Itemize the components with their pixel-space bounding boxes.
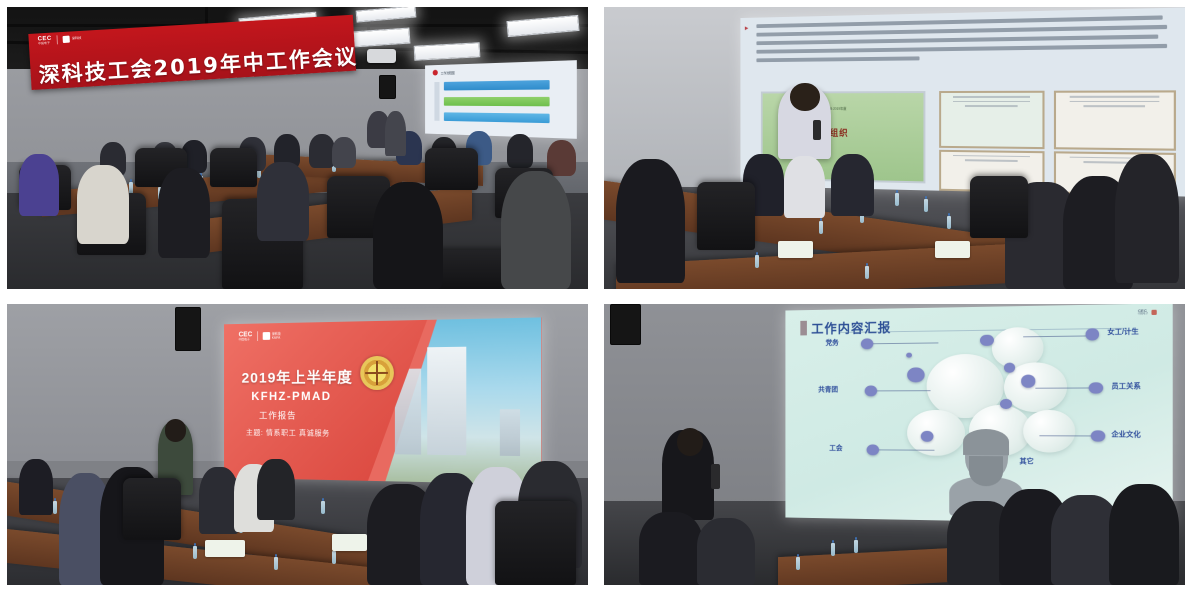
slide-title: 工作内容汇报 [811,317,891,337]
diagram-label-dangwu: 党务 [826,337,839,347]
diagram-blob [1024,409,1076,452]
water-bottle [854,540,858,553]
photo-cell-bottom-right: 工作内容汇报 CEC中国电子 [596,296,1192,592]
certificate [939,91,1044,150]
slide-header: 工作流程图 [433,70,455,76]
water-bottle [796,557,800,570]
photo-grid: CEC 中国电子 深科技 深科技工会2019年中工作会议 工作流程图 [0,0,1192,592]
attendee-foreground [501,171,571,289]
tissue-box [332,534,367,551]
slide-photo-building [427,347,466,455]
cec-logo: CEC 中国电子 [38,35,53,45]
kaifa-mark-icon [1151,310,1156,315]
slide-line-3: 工作报告 [242,409,353,422]
diagram-node [1022,375,1036,388]
attendee-foreground [158,168,210,258]
tissue-box [205,540,246,557]
photo-top-right: 2018-2019年度 先进基层党组织 苏州工业园区东沙湖街道党工委 [604,7,1185,289]
water-bottle [831,543,835,556]
chair [970,176,1028,238]
chair [697,182,755,250]
diagram-link [1039,435,1095,436]
chair [425,148,477,190]
ceiling-lamp [413,42,480,60]
slide-title-row: 工作内容汇报 [800,317,891,337]
attendee [309,134,335,168]
slide-bar [443,97,549,107]
water-bottle [819,221,823,234]
slide-title: 工作流程图 [440,70,454,75]
wall-speaker [175,307,200,351]
slide-photo-building [500,409,520,456]
diagram-label-nvgong: 女工/计生 [1108,327,1139,338]
diagram-node [908,367,925,382]
title-marker-icon [800,320,807,335]
attendee [507,134,533,168]
photo-bottom-right: 工作内容汇报 CEC中国电子 [604,304,1185,585]
slide-body-text [757,15,1172,67]
microphone [813,120,821,140]
projection-screen: 工作流程图 [425,61,577,140]
trade-union-emblem-icon [360,356,394,390]
presenter-standing [385,111,406,156]
diagram-label-gonghui: 工会 [830,443,843,453]
attendee-foreground [616,159,686,283]
attendee-foreground [77,165,129,244]
diagram-node [1089,382,1103,394]
kaifa-mark-icon [263,332,270,340]
chair [210,148,256,187]
diagram-node [981,334,994,346]
attendee-foreground [1109,484,1179,585]
wall-speaker [610,304,641,345]
bullet-arrow-icon [745,26,749,30]
water-bottle [321,501,325,514]
chair [495,501,576,585]
projection-screen: 工作内容汇报 CEC中国电子 [786,304,1174,524]
tissue-box [778,241,813,258]
slide-text-block: 2019年上半年度 KFHZ-PMAD 工作报告 主题: 情系职工 真诚服务 [242,369,353,439]
water-bottle [53,501,57,514]
diagram-link [1024,335,1092,337]
avatar-hair [964,429,1010,455]
presenter-head [790,83,820,111]
water-bottle [924,199,928,212]
attendee-foreground [1115,154,1179,284]
diagram-node [906,352,912,358]
kaifa-logo: 深科技KAIFA [263,332,281,340]
kaifa-logo: 深科技 [63,35,82,43]
attendee [831,154,875,216]
projector [367,49,396,63]
water-bottle [865,266,869,279]
photo-bottom-left: CEC 中国电子 深科技KAIFA 2019年上半年度 KFHZ-PMAD 工作… [7,304,588,585]
photo-cell-top-left: CEC 中国电子 深科技 深科技工会2019年中工作会议 工作流程图 [0,0,596,296]
diagram-label-yuangongguanxi: 员工关系 [1112,381,1141,391]
water-bottle [193,546,197,559]
water-bottle [755,255,759,268]
banner-logos: CEC 中国电子 深科技 [38,34,82,46]
attendee-foreground [697,518,755,585]
wall-speaker [379,75,396,100]
cec-logo: CEC 中国电子 [239,331,253,341]
slide-line-2: KFHZ-PMAD [242,389,353,403]
photo-cell-top-right: 2018-2019年度 先进基层党组织 苏州工业园区东沙湖街道党工委 [596,0,1192,296]
diagram-node [1091,430,1105,442]
attendee [332,137,355,168]
slide-logos: CEC中国电子 [1138,309,1157,316]
slide-bar [443,113,549,124]
diagram-link [867,342,939,344]
attendee-foreground [373,182,443,289]
attendee-foreground [19,154,60,216]
diagram-node [865,385,878,396]
water-bottle [274,557,278,570]
slide-sidebar [434,82,439,122]
microphone [711,464,719,489]
photo-top-left: CEC 中国电子 深科技 深科技工会2019年中工作会议 工作流程图 [7,7,588,289]
avatar-beard [970,456,1004,485]
chair [123,478,181,540]
kaifa-mark-icon [63,35,70,42]
attendee-foreground [639,512,703,585]
presenter-head [677,428,704,456]
logo-divider [57,35,59,44]
diagram-node [1000,399,1012,409]
attendee [257,459,295,521]
diagram-label-gongqingtuan: 共青团 [818,384,838,394]
water-bottle [947,216,951,229]
slide-line-1: 2019年上半年度 [242,369,353,387]
diagram-node [1085,328,1099,340]
diagram-link [874,449,934,450]
diagram-node [861,338,874,349]
presenter-head [165,419,186,441]
diagram-link [870,390,930,391]
diagram-link [1036,387,1096,388]
water-bottle [332,551,336,564]
slide-logos: CEC 中国电子 深科技KAIFA [239,331,281,341]
certificate [1054,90,1176,151]
photo-cell-bottom-left: CEC 中国电子 深科技KAIFA 2019年上半年度 KFHZ-PMAD 工作… [0,296,596,592]
attendee [784,156,825,218]
slide-bullet-icon [433,70,438,76]
attendee [19,459,54,515]
attendee-foreground [257,162,309,241]
logo-divider [257,331,258,341]
cec-logo: CEC中国电子 [1138,309,1148,316]
diagram-label-qiyewenhua: 企业文化 [1112,429,1141,439]
diagram-node [867,444,880,455]
tissue-box [935,241,970,258]
water-bottle [895,193,899,206]
slide-bar [443,80,549,91]
slide-line-4: 主题: 情系职工 真诚服务 [242,427,353,439]
